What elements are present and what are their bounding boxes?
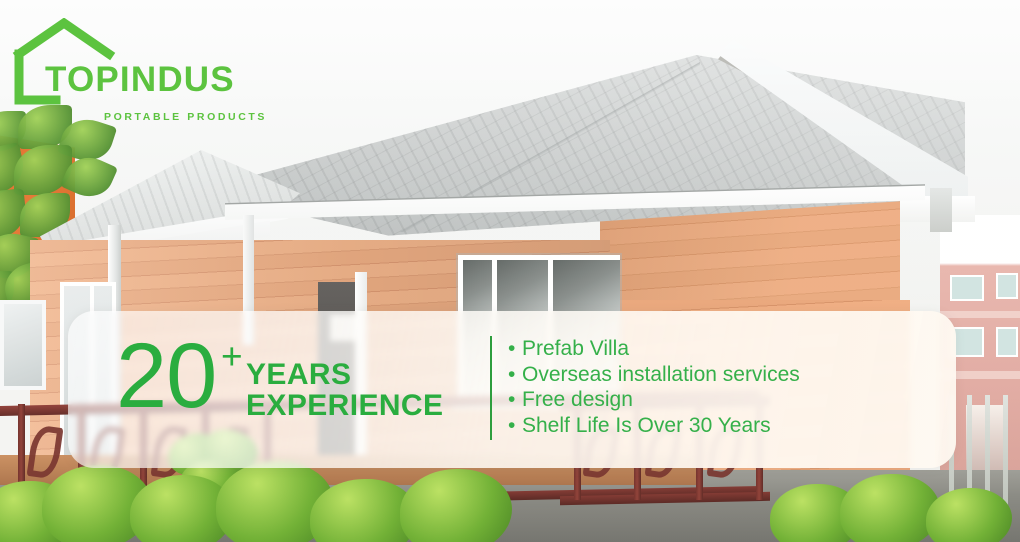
panel-divider (490, 336, 492, 440)
right-shrubs (770, 470, 1000, 542)
list-item: •Prefab Villa (508, 336, 928, 362)
feature-label: Overseas installation services (522, 363, 800, 386)
building-window (996, 327, 1018, 357)
list-item: •Free design (508, 387, 928, 413)
eave-end-cap (930, 188, 952, 232)
bullet-icon: • (508, 336, 522, 362)
feature-label: Prefab Villa (522, 337, 629, 360)
small-window (0, 300, 46, 390)
stat-label-line1: YEARS (246, 359, 443, 390)
brand-tagline: PORTABLE PRODUCTS (104, 111, 267, 123)
foreground-shrubs (0, 455, 540, 542)
stat-plus-superscript: + (221, 338, 243, 375)
brand-name: TOPINDUS (45, 62, 235, 97)
feature-label: Shelf Life Is Over 30 Years (522, 414, 771, 437)
building-window (996, 273, 1018, 299)
stat-label: YEARS EXPERIENCE (246, 359, 443, 421)
list-item: •Overseas installation services (508, 362, 928, 388)
feature-list: •Prefab Villa •Overseas installation ser… (508, 336, 928, 438)
bullet-icon: • (508, 362, 522, 388)
bullet-icon: • (508, 413, 522, 439)
promo-banner: TOPINDUS PORTABLE PRODUCTS 20 + YEARS EX… (0, 0, 1020, 542)
experience-stat: 20 + YEARS EXPERIENCE (116, 336, 466, 432)
bullet-icon: • (508, 387, 522, 413)
building-ledge (940, 311, 1020, 318)
stat-number: 20 (116, 330, 216, 422)
feature-label: Free design (522, 388, 633, 411)
stat-label-line2: EXPERIENCE (246, 390, 443, 421)
building-window (950, 275, 984, 301)
list-item: •Shelf Life Is Over 30 Years (508, 413, 928, 439)
brand-logo[interactable]: TOPINDUS PORTABLE PRODUCTS (12, 18, 262, 113)
